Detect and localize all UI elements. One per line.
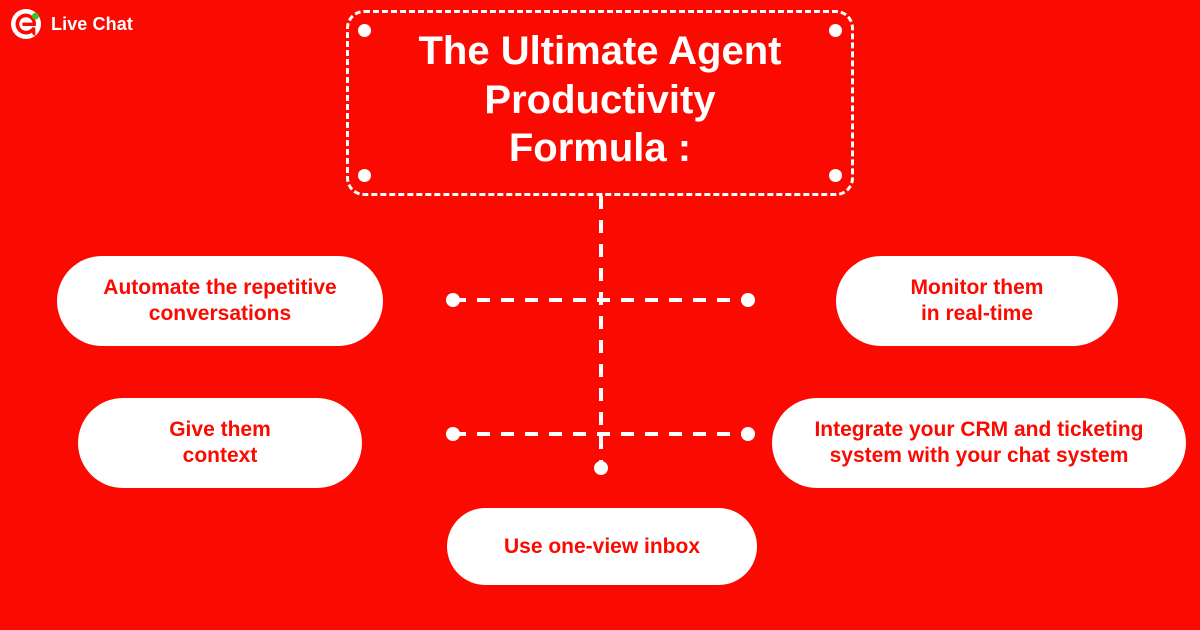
item-context-line-1: Give them — [169, 418, 271, 441]
title-line-1: The Ultimate Agent — [419, 27, 782, 76]
item-automate-line-1: Automate the repetitive — [103, 276, 336, 299]
title-plaque: The Ultimate Agent Productivity Formula … — [346, 10, 854, 196]
title-line-2: Productivity — [484, 76, 715, 125]
infographic-canvas: Live Chat The Ultimate Agent Productivit… — [0, 0, 1200, 630]
live-chat-logo-icon — [10, 8, 42, 40]
item-give-them-context[interactable]: Give them context — [78, 398, 362, 488]
connector-dot-lower-left — [446, 427, 460, 441]
item-integrate-line-1: Integrate your CRM and ticketing — [814, 418, 1143, 441]
item-monitor-real-time[interactable]: Monitor them in real-time — [836, 256, 1118, 346]
item-context-line-2: context — [183, 444, 258, 467]
item-automate-line-2: conversations — [149, 302, 291, 325]
item-integrate-line-2: system with your chat system — [830, 444, 1129, 467]
connector-dot-upper-right — [741, 293, 755, 307]
item-inbox-line-1: Use one-view inbox — [504, 535, 700, 558]
page-title: The Ultimate Agent Productivity Formula … — [349, 13, 851, 193]
connector-dot-upper-left — [446, 293, 460, 307]
title-line-3: Formula : — [509, 124, 691, 173]
item-monitor-line-2: in real-time — [921, 302, 1033, 325]
item-automate-repetitive-conversations[interactable]: Automate the repetitive conversations — [57, 256, 383, 346]
connector-dot-bottom — [594, 461, 608, 475]
brand-name-label: Live Chat — [51, 14, 133, 35]
item-integrate-crm-ticketing[interactable]: Integrate your CRM and ticketing system … — [772, 398, 1186, 488]
item-use-one-view-inbox[interactable]: Use one-view inbox — [447, 508, 757, 585]
item-monitor-line-1: Monitor them — [911, 276, 1044, 299]
brand-logo-group[interactable]: Live Chat — [10, 8, 133, 40]
connector-dot-lower-right — [741, 427, 755, 441]
